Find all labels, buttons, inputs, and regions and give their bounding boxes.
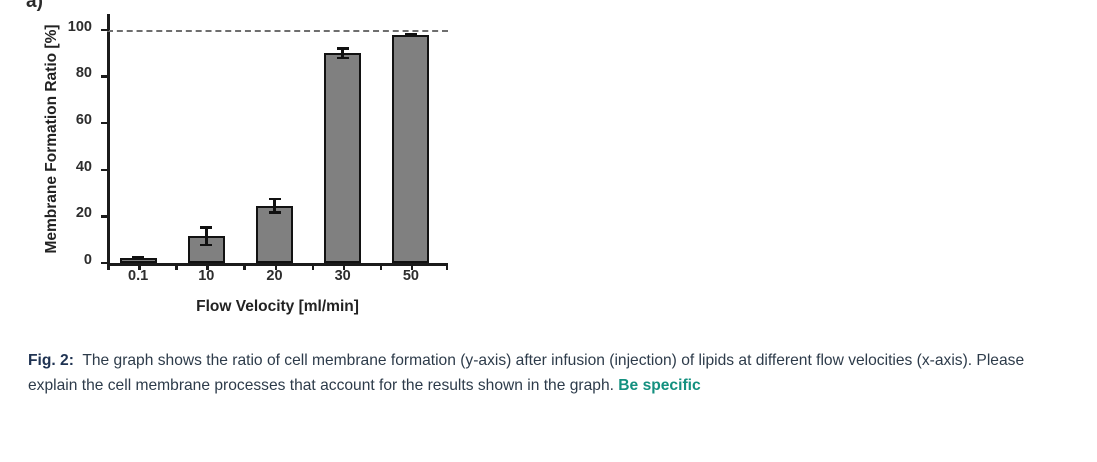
figure-caption: Fig. 2: The graph shows the ratio of cel… [28,348,1074,398]
error-bar-cap-bottom [337,57,349,60]
y-tick-label-0: 0 [48,252,92,268]
error-bar-0.1 [131,256,145,260]
error-bar-10 [199,226,213,246]
error-bar-30 [336,47,350,59]
error-bar-cap-top [269,198,281,201]
error-bar-cap-bottom [200,244,212,247]
y-axis-line [107,14,110,265]
x-tick-label-20: 20 [245,268,305,284]
y-axis-title: Membrane Formation Ratio [%] [43,14,61,264]
x-tick-label-30: 30 [313,268,373,284]
caption-figure-label: Fig. 2: [28,352,74,369]
y-tick-40: 40 [101,169,109,172]
reference-line-100 [107,30,448,32]
plot-area: 020406080100 [107,14,448,265]
x-axis-title: Flow Velocity [ml/min] [107,298,448,316]
bar-30 [324,53,361,263]
x-tick-label-10: 10 [176,268,236,284]
caption-highlight: Be specific [618,377,700,394]
figure-chart: Membrane Formation Ratio [%] 02040608010… [0,0,520,335]
x-tick-boundary-end [446,263,449,270]
error-bar-cap-bottom [405,34,417,37]
bar-50 [392,35,429,263]
y-tick-label-40: 40 [48,159,92,175]
x-tick-label-50: 50 [381,268,441,284]
y-tick-20: 20 [101,215,109,218]
y-tick-100: 100 [101,29,109,32]
y-tick-label-20: 20 [48,205,92,221]
y-tick-60: 60 [101,122,109,125]
caption-body: The graph shows the ratio of cell membra… [28,352,1024,394]
bar-20 [256,206,293,263]
error-bar-20 [268,198,282,214]
error-bar-cap-bottom [132,257,144,260]
y-tick-label-100: 100 [48,19,92,35]
error-bar-50 [404,33,418,36]
y-tick-80: 80 [101,75,109,78]
error-bar-cap-top [200,226,212,229]
y-tick-label-80: 80 [48,65,92,81]
x-axis-line [107,263,448,266]
error-bar-cap-bottom [269,211,281,214]
x-tick-label-0.1: 0.1 [108,268,168,284]
error-bar-cap-top [337,47,349,50]
y-tick-label-60: 60 [48,112,92,128]
